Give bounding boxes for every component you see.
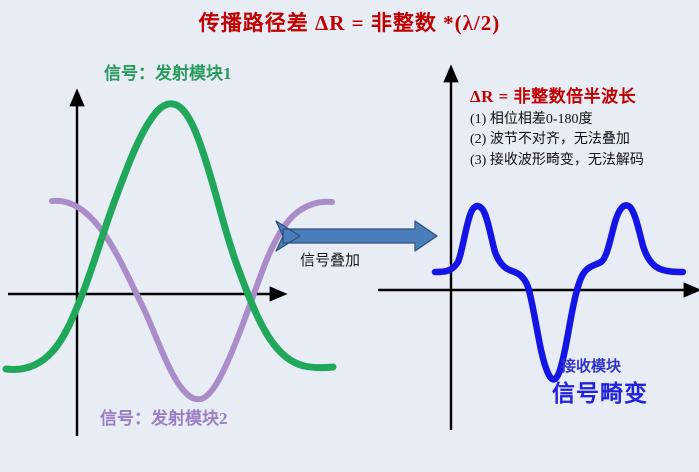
info-block: ΔR = 非整数倍半波长 (1) 相位相差0-180度 (2) 波节不对齐，无法… [470, 82, 695, 171]
page-title: 传播路径差 ΔR = 非整数 *(λ/2) [0, 10, 699, 36]
received-distorted-waveform [435, 205, 683, 379]
label-signal-superposition: 信号叠加 [300, 252, 360, 271]
label-transmit-module-1: 信号：发射模块1 [104, 63, 232, 84]
signal-curve-transmit-module-1 [6, 104, 333, 370]
left-plot-axes [8, 104, 272, 436]
signal-curve-transmit-module-2 [52, 201, 332, 400]
label-signal-distortion: 信号畸变 [552, 380, 648, 409]
info-heading: ΔR = 非整数倍半波长 [470, 82, 695, 107]
info-line-2: (2) 波节不对齐，无法叠加 [470, 130, 695, 150]
info-line-3: (3) 接收波形畸变，无法解码 [470, 151, 695, 171]
label-receive-module: 接收模块 [561, 358, 621, 377]
label-transmit-module-2: 信号：发射模块2 [100, 408, 228, 429]
slide-canvas: 传播路径差 ΔR = 非整数 *(λ/2) 信号：发射模块1 [0, 0, 699, 472]
signal-superposition-arrow[interactable] [276, 221, 437, 251]
info-line-1: (1) 相位相差0-180度 [470, 110, 695, 130]
